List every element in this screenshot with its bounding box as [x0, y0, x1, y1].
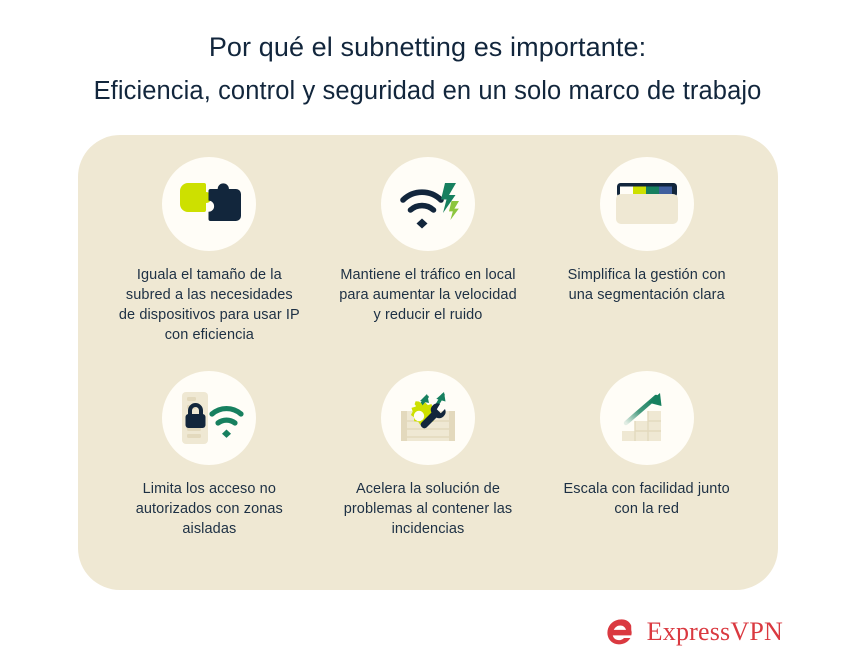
benefit-caption: Limita los acceso no autorizados con zon… [117, 479, 302, 539]
puzzle-pieces-icon [174, 175, 244, 233]
toolbox-gear-wrench-icon [393, 389, 463, 447]
expressvpn-logo: ExpressVPN [604, 615, 783, 649]
benefits-grid: Iguala el tamaño de la subred a las nece… [78, 135, 778, 590]
logo-wordmark: ExpressVPN [647, 619, 783, 645]
title-line-2: Eficiencia, control y seguridad en un so… [0, 72, 855, 110]
benefit-item: Mantiene el tráfico en local para aument… [319, 153, 538, 367]
icon-circle [600, 371, 694, 465]
benefit-item: Iguala el tamaño de la subred a las nece… [100, 153, 319, 367]
infographic-page: Por qué el subnetting es importante: Efi… [0, 0, 855, 669]
expressvpn-e-mark-icon [604, 615, 638, 649]
icon-circle [162, 371, 256, 465]
page-title: Por qué el subnetting es importante: Efi… [0, 0, 855, 110]
benefit-caption: Simplifica la gestión con una segmentaci… [554, 265, 739, 305]
benefit-item: Limita los acceso no autorizados con zon… [100, 367, 319, 581]
benefit-caption: Escala con facilidad junto con la red [554, 479, 739, 519]
wifi-bolts-icon [393, 175, 463, 233]
icon-circle [381, 157, 475, 251]
benefit-caption: Acelera la solución de problemas al cont… [335, 479, 520, 539]
benefit-item: Acelera la solución de problemas al cont… [319, 367, 538, 581]
tabbed-folder-icon [612, 175, 682, 233]
benefit-item: Simplifica la gestión con una segmentaci… [537, 153, 756, 367]
icon-circle [381, 371, 475, 465]
lock-wifi-icon [174, 389, 244, 447]
icon-circle [600, 157, 694, 251]
benefit-caption: Mantiene el tráfico en local para aument… [335, 265, 520, 325]
title-line-1: Por qué el subnetting es importante: [0, 28, 855, 66]
stairs-arrow-icon [612, 389, 682, 447]
benefits-card: Iguala el tamaño de la subred a las nece… [78, 135, 778, 590]
benefit-item: Escala con facilidad junto con la red [537, 367, 756, 581]
icon-circle [162, 157, 256, 251]
benefit-caption: Iguala el tamaño de la subred a las nece… [117, 265, 302, 345]
